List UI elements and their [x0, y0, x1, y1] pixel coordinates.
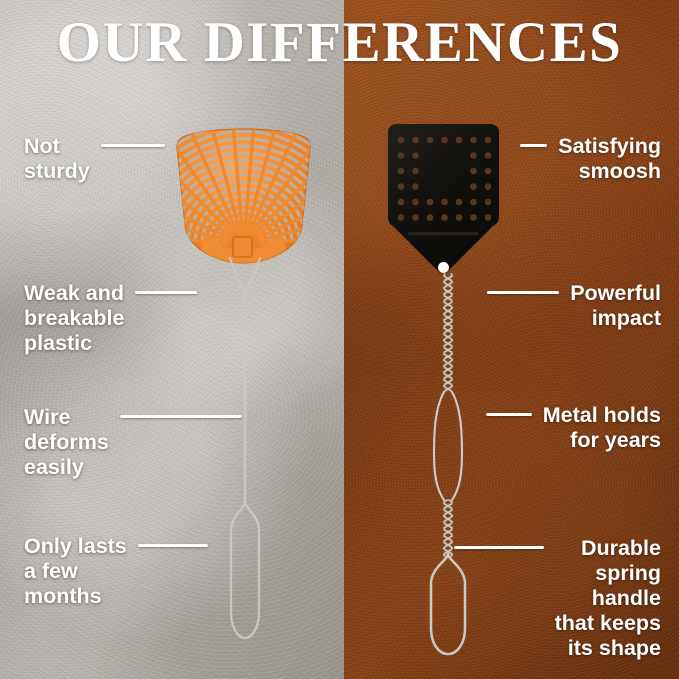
callout-powerful-impact-text: Powerful impact — [570, 281, 661, 331]
callout-not-sturdy-text: Not sturdy — [24, 134, 90, 184]
callout-powerful-impact: Powerful impact — [487, 281, 661, 331]
callout-satisfying-smoosh-text: Satisfying smoosh — [558, 134, 661, 184]
callout-wire-deforms: Wire deforms easily — [24, 405, 242, 480]
callout-metal-holds-text: Metal holds for years — [543, 403, 661, 453]
callout-metal-holds: Metal holds for years — [486, 403, 661, 453]
page-title: OUR DIFFERENCES — [0, 14, 679, 71]
callout-weak-plastic-text: Weak and breakable plastic — [24, 281, 124, 356]
callout-satisfying-smoosh-rule — [520, 144, 547, 147]
callout-metal-holds-rule — [486, 413, 532, 416]
callout-not-sturdy: Not sturdy — [24, 134, 165, 184]
callout-only-lasts: Only lasts a few months — [24, 534, 208, 609]
callout-only-lasts-rule — [138, 544, 208, 547]
callout-weak-plastic-rule — [135, 291, 197, 294]
callout-not-sturdy-rule — [101, 144, 165, 147]
callout-durable-handle: Durable spring handle that keeps its sha… — [454, 536, 661, 661]
callout-only-lasts-text: Only lasts a few months — [24, 534, 127, 609]
callout-wire-deforms-rule — [120, 415, 242, 418]
callout-powerful-impact-rule — [487, 291, 559, 294]
callout-weak-plastic: Weak and breakable plastic — [24, 281, 197, 356]
callout-satisfying-smoosh: Satisfying smoosh — [520, 134, 661, 184]
callout-durable-handle-rule — [454, 546, 544, 549]
callout-durable-handle-text: Durable spring handle that keeps its sha… — [555, 536, 661, 661]
black-swatter-head — [379, 123, 508, 278]
comparison-infographic: OUR DIFFERENCES — [0, 0, 679, 679]
callout-wire-deforms-text: Wire deforms easily — [24, 405, 109, 480]
